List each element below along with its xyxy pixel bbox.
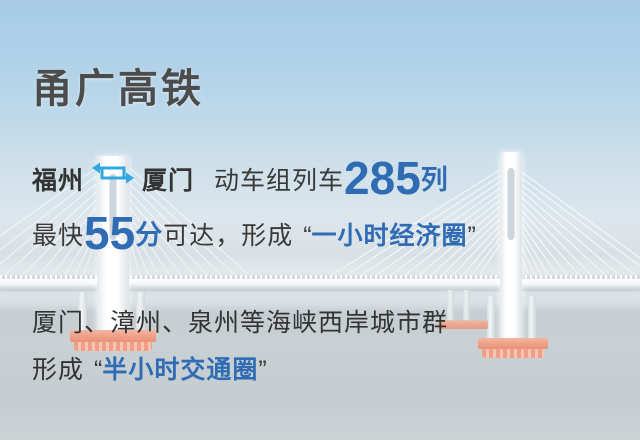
form-prefix-label: 形成 — [32, 350, 84, 386]
train-count-value: 285 — [344, 155, 421, 201]
quote-close-1: ” — [468, 222, 476, 251]
quote-open-2: “ — [94, 356, 102, 385]
quote-close-2: ” — [258, 356, 266, 385]
train-type-label: 动车组列车 — [214, 161, 344, 197]
quote-open-1: “ — [303, 222, 311, 251]
two-way-exchange-arrows-icon — [90, 160, 136, 186]
half-hour-traffic-circle-label: 半小时交通圈 — [102, 350, 258, 386]
train-count-unit: 列 — [421, 158, 449, 197]
destination-city-label: 厦门 — [142, 161, 194, 197]
cities-line: 厦门、漳州、泉州等海峡西岸城市群 — [32, 303, 448, 339]
fastest-prefix-label: 最快 — [32, 216, 84, 252]
poster-content: 甬广高铁 福州 厦门 动车组列车 285 列 最快 — [0, 0, 640, 440]
half-hour-line: 形成 “ 半小时交通圈 ” — [32, 350, 267, 386]
reachable-text: 可达，形成 — [163, 216, 293, 252]
west-strait-cities-text: 厦门、漳州、泉州等海峡西岸城市群 — [32, 303, 448, 339]
fastest-minutes-value: 55 — [84, 210, 135, 256]
headline-route-line: 福州 厦门 动车组列车 285 列 — [32, 150, 449, 197]
one-hour-economic-circle-label: 一小时经济圈 — [312, 216, 468, 252]
origin-city-label: 福州 — [32, 161, 84, 197]
poster-canvas: 甬广高铁 福州 厦门 动车组列车 285 列 最快 — [0, 0, 640, 440]
headline-time-line: 最快 55 分 可达，形成 “ 一小时经济圈 ” — [32, 205, 476, 252]
page-title: 甬广高铁 — [32, 56, 204, 114]
fastest-minutes-unit: 分 — [135, 213, 163, 252]
